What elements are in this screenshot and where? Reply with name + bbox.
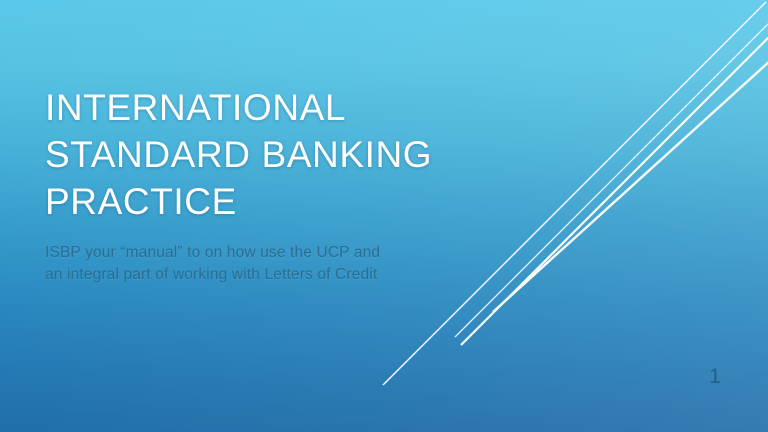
subtitle-line-2: an integral part of working with Letters…: [45, 264, 465, 286]
slide-number: 1: [700, 362, 730, 392]
subtitle-placeholder[interactable]: ISBP your “manual” to on how use the UCP…: [45, 242, 465, 286]
deco-line-4: [493, 50, 768, 312]
page-title: International Standard Banking Practice: [45, 84, 475, 225]
deco-line-2: [455, 16, 768, 337]
subtitle-line-1: ISBP your “manual” to on how use the UCP…: [45, 242, 465, 264]
presentation-slide: International Standard Banking Practice …: [0, 0, 768, 432]
title-placeholder[interactable]: International Standard Banking Practice: [45, 84, 475, 225]
deco-line-3: [461, 26, 768, 345]
